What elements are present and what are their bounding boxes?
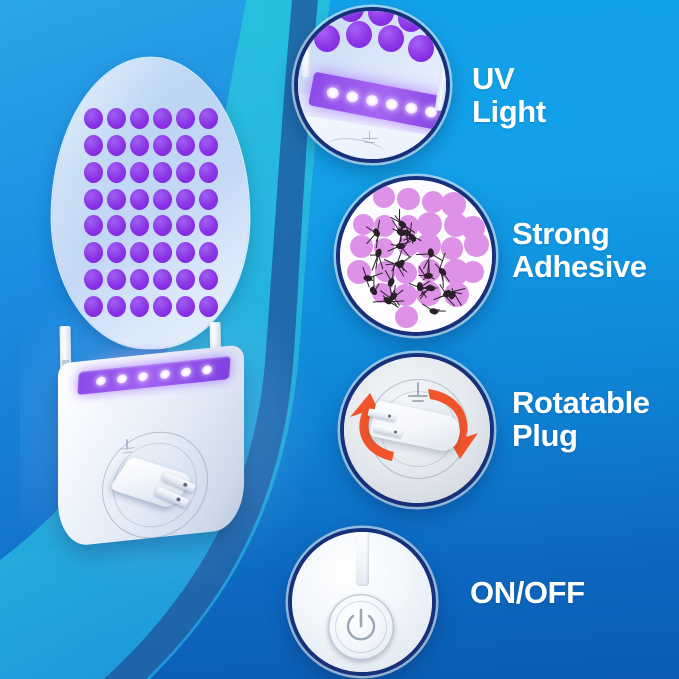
power-symbol-icon <box>340 606 382 648</box>
glue-dot <box>107 135 126 156</box>
glue-dot <box>346 21 372 48</box>
glue-dot <box>84 189 103 210</box>
glue-dot <box>84 296 103 317</box>
glue-dot <box>176 269 195 290</box>
glue-dot <box>130 189 149 210</box>
glue-dot <box>395 306 418 329</box>
glue-dot <box>176 189 195 210</box>
glue-dot <box>84 135 103 156</box>
on-off-artwork <box>292 532 432 672</box>
housing-seam <box>356 528 369 586</box>
glue-card-dot-grid <box>83 106 219 319</box>
trapped-insect <box>427 247 438 260</box>
glue-dot <box>107 108 126 129</box>
glue-dot <box>84 242 103 263</box>
glue-dot <box>107 162 126 183</box>
glue-dot <box>462 261 484 283</box>
uv-led <box>346 90 360 103</box>
glue-dot <box>199 189 218 210</box>
uv-led <box>96 376 107 386</box>
glue-dot <box>107 296 126 317</box>
glue-dot <box>84 162 103 183</box>
uv-led <box>202 365 213 375</box>
glue-dot <box>153 108 172 129</box>
glue-dot <box>464 232 489 257</box>
glue-dot <box>153 135 172 156</box>
glue-dot <box>153 269 172 290</box>
feature-label-uv-light: UV Light <box>472 63 546 129</box>
rotatable-plug-artwork <box>344 357 490 503</box>
glue-dot <box>199 215 218 236</box>
uv-light-bubble <box>294 7 450 163</box>
glue-dot <box>153 296 172 317</box>
card-bracket-left-closeup <box>302 37 311 77</box>
uv-led <box>385 97 399 110</box>
glue-dot <box>130 135 149 156</box>
glue-dot <box>199 269 218 290</box>
product-render <box>44 58 294 538</box>
uv-led <box>326 86 340 99</box>
glue-dot <box>176 215 195 236</box>
glue-dot <box>176 296 195 317</box>
uv-led <box>138 372 149 382</box>
glue-dot <box>353 214 374 235</box>
glue-dot <box>84 269 103 290</box>
feature-label-on-off: ON/OFF <box>470 577 585 610</box>
strong-adhesive-artwork <box>340 180 492 332</box>
glue-dot <box>130 242 149 263</box>
glue-dot <box>130 162 149 183</box>
glue-dot <box>397 188 420 211</box>
feature-label-rotatable-plug: Rotatable Plug <box>512 387 650 453</box>
glue-dot <box>153 242 172 263</box>
product-infographic-scene: UV Light Strong Adhesive <box>0 0 679 679</box>
glue-card <box>52 58 249 348</box>
glue-dot <box>130 269 149 290</box>
glue-dot <box>107 269 126 290</box>
glue-dot <box>373 186 395 208</box>
orientation-marking-closeup <box>360 131 382 147</box>
glue-dot <box>130 108 149 129</box>
glue-dot <box>408 35 434 62</box>
glue-dot <box>107 215 126 236</box>
glue-dot <box>153 215 172 236</box>
strong-adhesive-bubble <box>336 176 496 336</box>
glue-dot <box>176 108 195 129</box>
uv-led <box>180 367 191 377</box>
glue-dot <box>199 242 218 263</box>
glue-dot <box>107 189 126 210</box>
glue-dot <box>107 242 126 263</box>
uv-led <box>405 101 419 114</box>
uv-light-artwork <box>298 11 446 159</box>
glue-dot <box>84 215 103 236</box>
glue-dot <box>153 162 172 183</box>
trapped-insect <box>425 307 439 319</box>
glue-dot <box>199 108 218 129</box>
on-off-bubble <box>288 528 436 676</box>
glue-dot <box>130 296 149 317</box>
glue-dot <box>84 108 103 129</box>
glue-dot <box>199 135 218 156</box>
uv-led <box>159 369 170 379</box>
trapped-insect <box>359 274 373 286</box>
glue-dot <box>378 25 404 52</box>
glue-dot <box>199 296 218 317</box>
glue-dot <box>199 162 218 183</box>
glue-dot <box>176 242 195 263</box>
uv-led <box>365 94 379 107</box>
glue-dot <box>130 215 149 236</box>
feature-label-strong-adhesive: Strong Adhesive <box>512 218 647 284</box>
glue-dot <box>176 162 195 183</box>
glue-dot <box>153 189 172 210</box>
glue-dot <box>176 135 195 156</box>
uv-led <box>117 374 128 384</box>
trapped-insect <box>423 285 436 296</box>
glue-dot <box>314 25 340 52</box>
rotatable-plug-bubble <box>340 353 494 507</box>
